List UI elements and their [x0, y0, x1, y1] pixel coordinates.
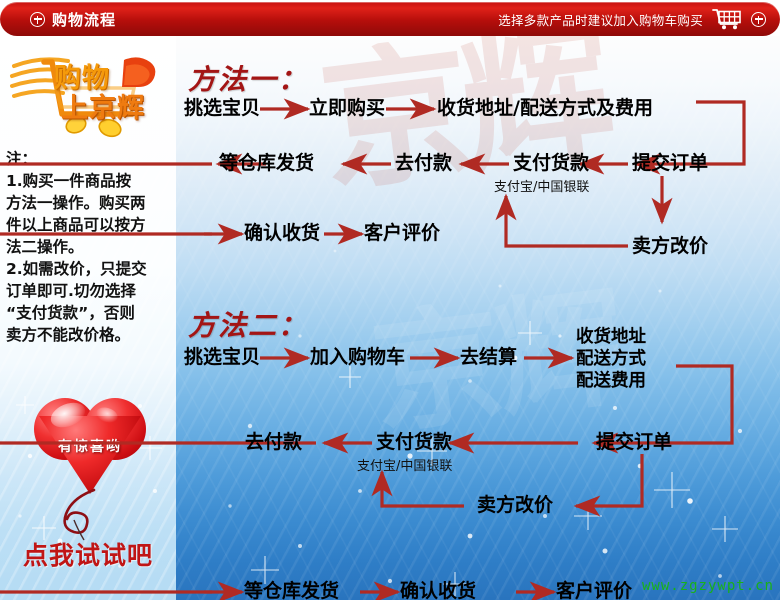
heart-balloon-icon[interactable]: 有惊喜哟 [34, 396, 146, 496]
note-line-6: 订单即可.切勿选择 [6, 280, 174, 302]
flowchart-area: 方法一： 挑选宝贝 立即购买 收货地址/配送方式及费用 提交订单 支付货款 支付… [176, 36, 780, 600]
brand-logo: 购物 上京辉 [6, 44, 171, 144]
node-m2-confirm-receipt[interactable]: 确认收货 [400, 581, 476, 600]
note-line-2: 方法一操作。购买两 [6, 192, 174, 214]
method-one-title: 方法一： [188, 58, 308, 98]
header-note: 选择多款产品时建议加入购物车购买 [498, 10, 703, 29]
node-m2-shipping-fee[interactable]: 配送费用 [576, 370, 646, 393]
node-m2-address[interactable]: 收货地址 [576, 326, 646, 349]
node-m2-shipping-method[interactable]: 配送方式 [576, 348, 646, 371]
node-m1-buy-now[interactable]: 立即购买 [309, 98, 385, 119]
header-title: 购物流程 [52, 9, 116, 30]
note-line-7: “支付货款”，否则 [6, 302, 174, 324]
shopping-cart-icon[interactable] [712, 7, 742, 31]
node-m2-payment-note: 支付宝/中国银联 [357, 455, 452, 474]
node-m1-confirm-receipt[interactable]: 确认收货 [244, 223, 320, 244]
node-m1-select-item[interactable]: 挑选宝贝 [184, 98, 260, 119]
node-m1-customer-review[interactable]: 客户评价 [364, 223, 440, 244]
node-m2-add-to-cart[interactable]: 加入购物车 [310, 347, 405, 368]
circle-plus-icon[interactable] [30, 12, 45, 27]
note-line-1: 1.购买一件商品按 [6, 170, 174, 192]
header-left-group: 购物流程 [30, 2, 116, 36]
node-m2-seller-adjust-price[interactable]: 卖方改价 [477, 495, 553, 516]
node-m1-payment-note: 支付宝/中国银联 [494, 176, 589, 195]
node-m2-wait-shipment[interactable]: 等仓库发货 [244, 581, 339, 600]
header-right-group: 选择多款产品时建议加入购物车购买 [498, 2, 766, 36]
note-title: 注： [6, 148, 174, 170]
node-m2-pay-goods[interactable]: 支付货款 [376, 432, 452, 453]
note-line-8: 卖方不能改价格。 [6, 324, 174, 346]
method-two-title: 方法二： [188, 304, 308, 344]
node-m2-customer-review[interactable]: 客户评价 [556, 581, 632, 600]
node-m1-go-pay[interactable]: 去付款 [395, 153, 452, 174]
note-line-5: 2.如需改价，只提交 [6, 258, 174, 280]
node-m2-select-item[interactable]: 挑选宝贝 [184, 347, 260, 368]
note-block: 注： 1.购买一件商品按 方法一操作。购买两 件以上商品可以按方 法二操作。 2… [6, 148, 174, 346]
top-header-bar: 购物流程 选择多款产品时建议加入购物车购买 [0, 2, 780, 36]
node-m1-address-shipping[interactable]: 收货地址/配送方式及费用 [437, 98, 653, 119]
cta-text[interactable]: 点我试试吧 [0, 536, 176, 572]
node-m1-submit-order[interactable]: 提交订单 [632, 153, 708, 174]
node-m2-go-pay[interactable]: 去付款 [245, 432, 302, 453]
shopping-flow-infographic: 京辉 京辉 [0, 0, 780, 600]
node-m1-seller-adjust-price[interactable]: 卖方改价 [632, 236, 708, 257]
site-watermark-url: www.zgzywpt.cn [642, 578, 774, 594]
logo-text-line2: 上京辉 [61, 86, 145, 125]
note-line-4: 法二操作。 [6, 236, 174, 258]
node-m2-checkout[interactable]: 去结算 [460, 347, 517, 368]
node-m1-pay-goods[interactable]: 支付货款 [513, 153, 589, 174]
balloon-label: 有惊喜哟 [34, 436, 146, 456]
node-m1-wait-shipment[interactable]: 等仓库发货 [219, 153, 314, 174]
circle-plus-icon-right[interactable] [751, 12, 766, 27]
promo-balloon[interactable]: 有惊喜哟 [14, 396, 164, 536]
node-m2-submit-order[interactable]: 提交订单 [596, 432, 672, 453]
